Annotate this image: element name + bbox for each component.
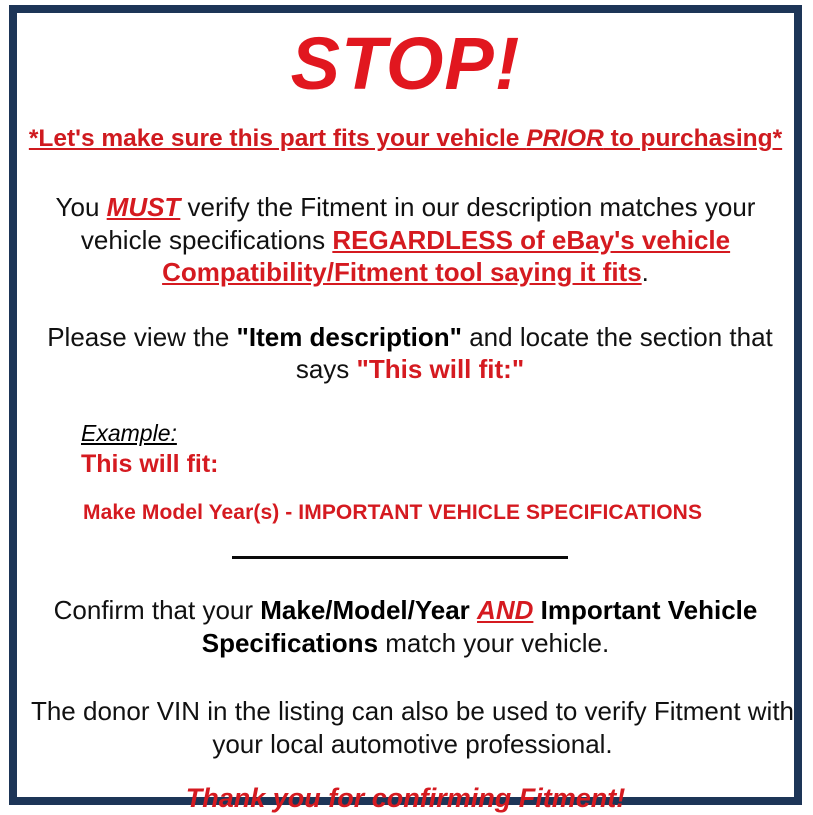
example-fit-heading: This will fit:	[81, 446, 786, 479]
stop-heading: STOP!	[25, 13, 786, 101]
must-text-part3: .	[642, 257, 649, 287]
must-text-part1: You	[56, 192, 107, 222]
confirm-text-part1: Confirm that your	[54, 595, 261, 625]
thank-you-line: Thank you for confirming Fitment!	[25, 760, 786, 814]
subtitle-after: to purchasing*	[604, 125, 782, 152]
divider-wrapper	[25, 525, 786, 564]
item-description-emphasis: "Item description"	[237, 322, 462, 352]
confirm-space2	[533, 595, 540, 625]
paragraph-must: You MUST verify the Fitment in our descr…	[26, 153, 786, 289]
confirm-text-part4: match your vehicle.	[378, 628, 609, 658]
and-emphasis: AND	[477, 595, 533, 625]
example-spec-line: Make Model Year(s) - IMPORTANT VEHICLE S…	[81, 479, 786, 525]
make-model-year-emphasis: Make/Model/Year	[260, 595, 470, 625]
confirm-space1	[470, 595, 477, 625]
view-text-part1: Please view the	[47, 322, 236, 352]
subtitle-before: *Let's make sure this part fits your veh…	[29, 125, 526, 152]
paragraph-confirm: Confirm that your Make/Model/Year AND Im…	[26, 564, 786, 659]
subtitle-prior-emphasis: PRIOR	[526, 125, 604, 152]
paragraph-view-description: Please view the "Item description" and l…	[25, 289, 795, 386]
subtitle-line: *Let's make sure this part fits your veh…	[25, 101, 786, 153]
paragraph-donor-vin: The donor VIN in the listing can also be…	[25, 659, 800, 760]
this-will-fit-emphasis: "This will fit:"	[357, 354, 525, 384]
section-divider	[232, 556, 568, 559]
must-emphasis: MUST	[107, 192, 181, 222]
example-label: Example:	[81, 420, 786, 446]
example-block: Example: This will fit: Make Model Year(…	[25, 386, 786, 526]
fitment-notice-body: STOP! *Let's make sure this part fits yo…	[17, 13, 794, 797]
fitment-notice-frame: STOP! *Let's make sure this part fits yo…	[9, 5, 802, 805]
